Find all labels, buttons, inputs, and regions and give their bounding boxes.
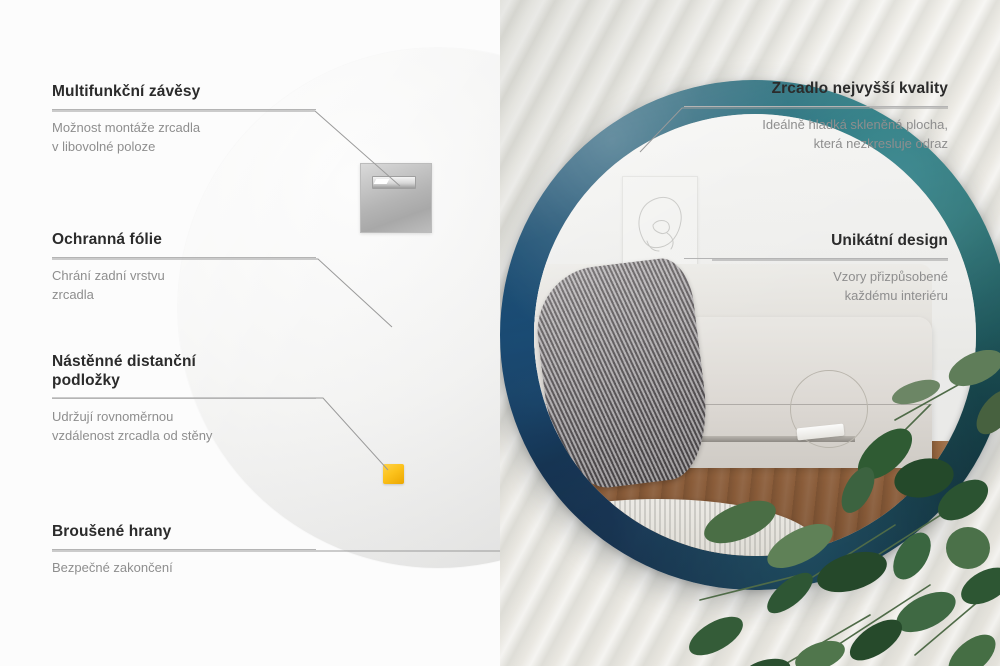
callout-rule bbox=[684, 258, 948, 259]
callout-title: Broušené hrany bbox=[52, 522, 316, 541]
desc-line-2: zrcadla bbox=[52, 287, 94, 302]
callout-description: Vzory přizpůsobené každému interiéru bbox=[684, 268, 948, 306]
desc-line-2: vzdálenost zrcadla od stěny bbox=[52, 428, 212, 443]
callout-unikatni-design: Unikátní design Vzory přizpůsobené každé… bbox=[684, 231, 948, 306]
callout-description: Bezpečné zakončení bbox=[52, 559, 316, 578]
callout-nastenne-distancni-podlozky: Nástěnné distanční podložky Udržují rovn… bbox=[52, 352, 316, 446]
hanger-slot-icon bbox=[372, 176, 416, 189]
callout-title: Nástěnné distanční podložky bbox=[52, 352, 316, 390]
title-line-1: Nástěnné distanční bbox=[52, 353, 196, 370]
callout-multifunkcni-zavesy: Multifunkční závěsy Možnost montáže zrca… bbox=[52, 82, 316, 157]
desc-line-2: která nezkresluje odraz bbox=[814, 136, 948, 151]
desc-line-1: Udržují rovnoměrnou bbox=[52, 409, 173, 424]
callout-rule bbox=[684, 106, 948, 107]
callout-description: Udržují rovnoměrnou vzdálenost zrcadla o… bbox=[52, 408, 316, 446]
desc-line-2: každému interiéru bbox=[845, 288, 948, 303]
callout-description: Ideálně hladká skleněná plocha, která ne… bbox=[684, 116, 948, 154]
round-mirror-photo bbox=[500, 80, 1000, 590]
desc-line-1: Ideálně hladká skleněná plocha, bbox=[762, 117, 948, 132]
spacer-pad-marker bbox=[383, 464, 404, 484]
callout-title: Zrcadlo nejvyšší kvality bbox=[684, 79, 948, 98]
desc-line-1: Chrání zadní vrstvu bbox=[52, 268, 165, 283]
callout-title: Ochranná fólie bbox=[52, 230, 316, 249]
hanger-bracket-marker bbox=[360, 163, 432, 233]
callout-rule bbox=[52, 398, 316, 399]
callout-title: Multifunkční závěsy bbox=[52, 82, 316, 101]
callout-rule bbox=[52, 109, 316, 110]
infographic-canvas: Multifunkční závěsy Možnost montáže zrca… bbox=[0, 0, 1000, 666]
mirror-glass bbox=[534, 114, 976, 556]
callout-ochranna-folie: Ochranná fólie Chrání zadní vrstvu zrcad… bbox=[52, 230, 316, 305]
callout-rule bbox=[52, 257, 316, 258]
callout-description: Chrání zadní vrstvu zrcadla bbox=[52, 267, 316, 305]
desc-line-2: v libovolné poloze bbox=[52, 139, 155, 154]
callout-brousene-hrany: Broušené hrany Bezpečné zakončení bbox=[52, 522, 316, 578]
callout-zrcadlo-nejvyssi-kvality: Zrcadlo nejvyšší kvality Ideálně hladká … bbox=[684, 79, 948, 154]
callout-title: Unikátní design bbox=[684, 231, 948, 250]
callout-description: Možnost montáže zrcadla v libovolné polo… bbox=[52, 119, 316, 157]
desc-line-1: Možnost montáže zrcadla bbox=[52, 120, 200, 135]
title-line-2: podložky bbox=[52, 372, 120, 389]
desc-line-1: Vzory přizpůsobené bbox=[833, 269, 948, 284]
callout-rule bbox=[52, 549, 316, 550]
